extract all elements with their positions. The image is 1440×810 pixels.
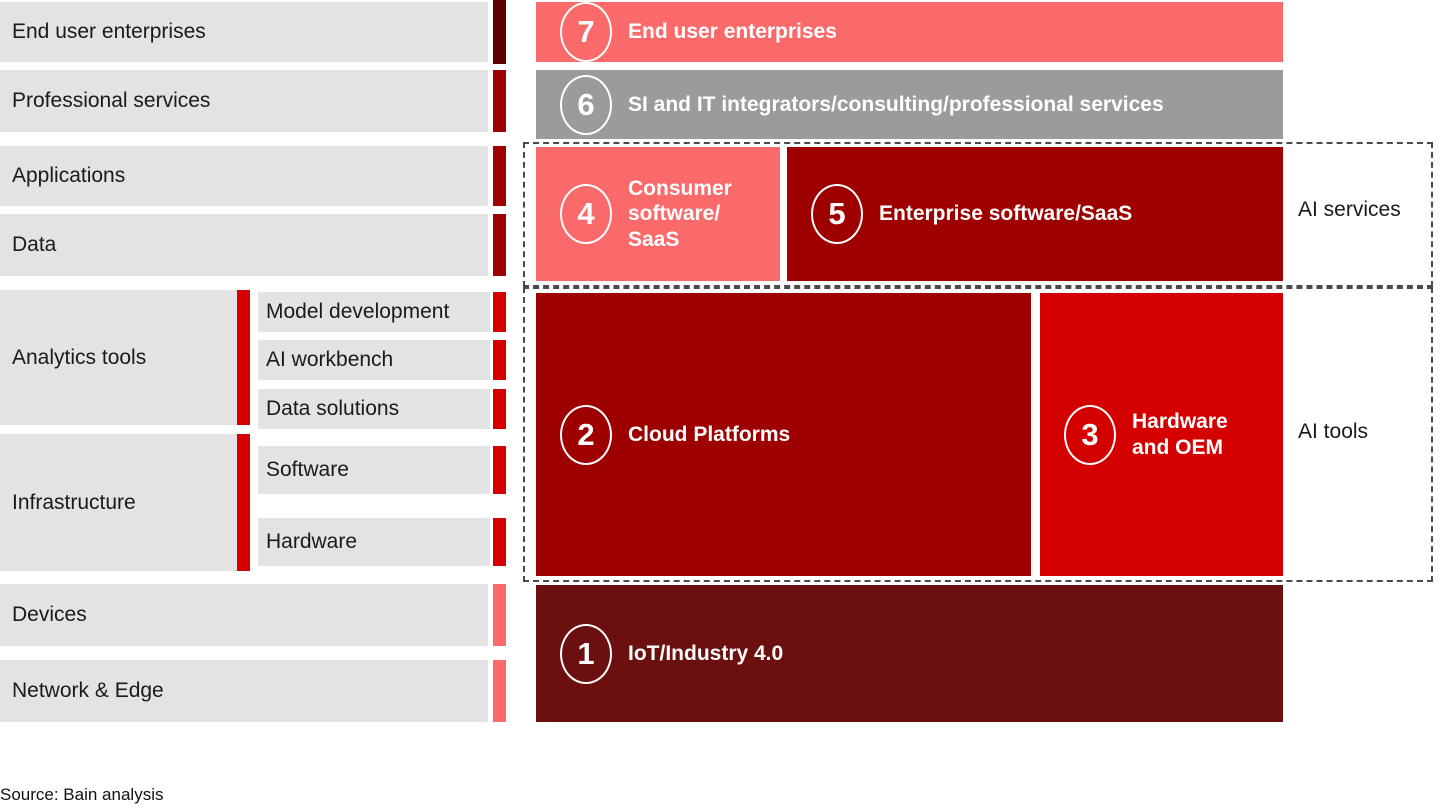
sub-layer-accent-bar [493,292,506,332]
value-chain-block[interactable]: 7End user enterprises [536,2,1283,62]
value-chain-block[interactable]: 3Hardware and OEM [1040,293,1283,576]
layer-row[interactable]: Applications [0,146,488,206]
block-number-badge: 4 [560,184,612,244]
sub-layer-accent-bar [493,518,506,566]
block-number-badge: 2 [560,405,612,465]
sub-layer-row[interactable]: Model development [258,292,490,332]
group-accent-bar [237,290,250,425]
block-title: Consumer software/ SaaS [628,176,732,252]
group-label: AI tools [1298,420,1368,444]
layer-accent-bar [493,70,506,132]
layer-row[interactable]: Infrastructure [0,434,237,571]
layer-accent-bar [493,0,506,64]
group-label: AI services [1298,198,1401,222]
sub-layer-row[interactable]: Software [258,446,490,494]
layer-accent-bar [493,214,506,276]
layer-row[interactable]: End user enterprises [0,2,488,62]
layer-row[interactable]: Devices [0,584,488,646]
layer-row[interactable]: Data [0,214,488,276]
group-accent-bar [237,434,250,571]
layer-label: Applications [0,164,125,187]
layer-accent-bar [493,146,506,206]
layer-row[interactable]: Professional services [0,70,488,132]
layer-label: Data [0,233,56,256]
value-chain-block[interactable]: 5Enterprise software/SaaS [787,147,1283,281]
layer-label: Devices [0,603,87,626]
sub-layer-label: Model development [258,300,449,323]
block-title: IoT/Industry 4.0 [628,641,783,666]
block-title: SI and IT integrators/consulting/profess… [628,92,1164,117]
layer-label: Network & Edge [0,679,164,702]
sub-layer-label: Hardware [258,530,357,553]
sub-layer-label: AI workbench [258,348,393,371]
sub-layer-label: Data solutions [258,397,399,420]
layer-accent-bar [493,660,506,722]
layer-label: End user enterprises [0,20,206,43]
layer-row[interactable]: Analytics tools [0,290,237,425]
value-chain-block[interactable]: 4Consumer software/ SaaS [536,147,780,281]
block-title: Hardware and OEM [1132,409,1228,459]
sub-layer-label: Software [258,458,349,481]
sub-layer-accent-bar [493,340,506,380]
block-number-badge: 6 [560,75,612,135]
block-title: End user enterprises [628,19,837,44]
value-chain-block[interactable]: 1IoT/Industry 4.0 [536,585,1283,722]
block-title: Enterprise software/SaaS [879,201,1132,226]
layer-label: Infrastructure [0,491,136,514]
block-number-badge: 3 [1064,405,1116,465]
sub-layer-accent-bar [493,389,506,429]
block-number-badge: 5 [811,184,863,244]
layer-label: Analytics tools [0,346,146,369]
layer-row[interactable]: Network & Edge [0,660,488,722]
source-note: Source: Bain analysis [0,785,163,805]
layer-accent-bar [493,584,506,646]
sub-layer-row[interactable]: Hardware [258,518,490,566]
sub-layer-row[interactable]: AI workbench [258,340,490,380]
block-number-badge: 1 [560,624,612,684]
block-title: Cloud Platforms [628,422,790,447]
diagram-canvas: End user enterprisesProfessional service… [0,0,1440,810]
value-chain-block[interactable]: 2Cloud Platforms [536,293,1031,576]
sub-layer-row[interactable]: Data solutions [258,389,490,429]
block-number-badge: 7 [560,2,612,62]
layer-label: Professional services [0,89,210,112]
sub-layer-accent-bar [493,446,506,494]
value-chain-block[interactable]: 6SI and IT integrators/consulting/profes… [536,70,1283,139]
